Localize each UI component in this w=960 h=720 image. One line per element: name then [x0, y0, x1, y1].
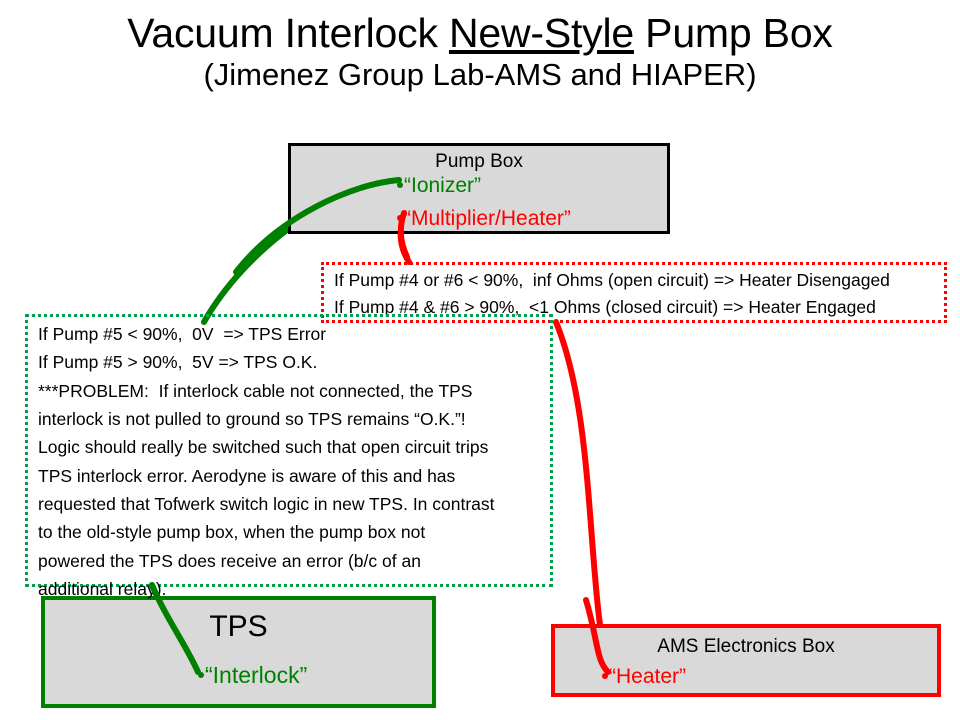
pump-box-ionizer-text: “Ionizer”	[404, 174, 481, 197]
ams-electronics-box-node[interactable]: AMS Electronics Box “Heater”	[551, 624, 941, 697]
tps-box-node[interactable]: TPS “Interlock”	[41, 596, 436, 708]
pump-box-multiplier-text: “Multiplier/Heater”	[404, 207, 571, 230]
title-text-before-underline: Vacuum Interlock	[127, 10, 449, 56]
ams-box-heater-label: “Heater”	[602, 666, 686, 687]
interlock-logic-note-text: If Pump #5 < 90%, 0V => TPS Error If Pum…	[28, 317, 550, 603]
tps-box-interlock-text: “Interlock”	[205, 662, 307, 688]
red-bullet-icon	[397, 215, 403, 221]
title-underlined-text: New-Style	[449, 10, 634, 56]
green-bullet-icon	[198, 672, 204, 678]
ams-box-heater-text: “Heater”	[609, 665, 686, 688]
slide-canvas: Vacuum Interlock New-Style Pump Box (Jim…	[0, 0, 960, 720]
interlock-logic-note: If Pump #5 < 90%, 0V => TPS Error If Pum…	[25, 314, 553, 587]
ams-box-title: AMS Electronics Box	[555, 636, 937, 658]
pump-box-title: Pump Box	[291, 151, 667, 173]
pump-box-ionizer-label: “Ionizer”	[397, 175, 481, 196]
page-title: Vacuum Interlock New-Style Pump Box (Jim…	[0, 12, 960, 92]
red-bullet-icon	[602, 673, 608, 679]
pump-box-node[interactable]: Pump Box “Ionizer” “Multiplier/Heater”	[288, 143, 670, 234]
tps-box-title: TPS	[45, 610, 432, 645]
title-line-1: Vacuum Interlock New-Style Pump Box	[0, 12, 960, 55]
title-text-after-underline: Pump Box	[634, 10, 833, 56]
pump-box-multiplier-label: “Multiplier/Heater”	[397, 208, 571, 229]
heater-logic-note-text: If Pump #4 or #6 < 90%, inf Ohms (open c…	[324, 265, 944, 321]
red-heater-connector	[556, 322, 608, 672]
tps-box-interlock-label: “Interlock”	[198, 664, 307, 687]
green-bullet-icon	[397, 182, 403, 188]
title-subtitle: (Jimenez Group Lab-AMS and HIAPER)	[0, 59, 960, 92]
